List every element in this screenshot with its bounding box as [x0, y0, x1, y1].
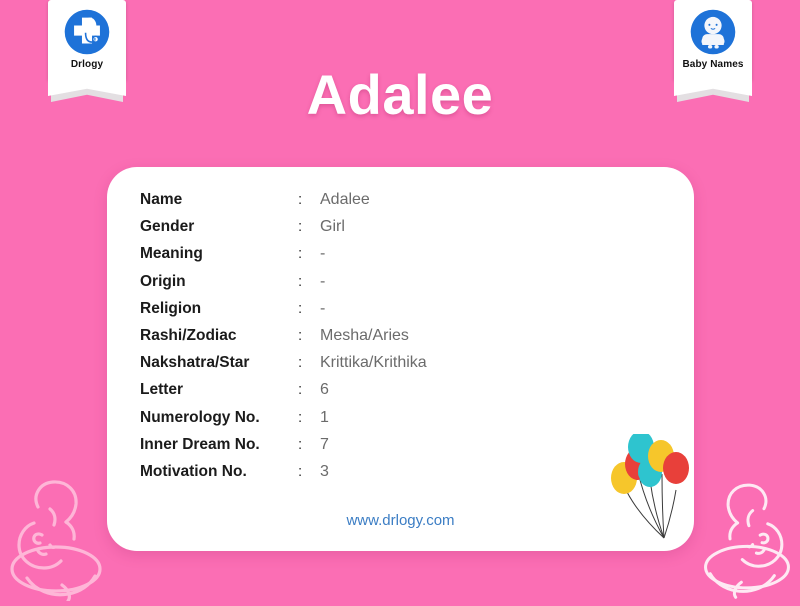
row-value: Adalee: [320, 191, 370, 209]
row-label: Name: [140, 191, 298, 209]
row-separator: :: [298, 436, 320, 453]
row-label: Meaning: [140, 245, 298, 263]
row-label: Numerology No.: [140, 409, 298, 427]
row-label: Rashi/Zodiac: [140, 327, 298, 345]
row-value: Mesha/Aries: [320, 327, 409, 345]
row-separator: :: [298, 354, 320, 371]
row-value: 6: [320, 381, 329, 399]
row-separator: :: [298, 381, 320, 398]
page-title: Adalee: [0, 62, 800, 127]
row-separator: :: [298, 245, 320, 262]
row-label: Motivation No.: [140, 463, 298, 481]
table-row: Meaning : -: [140, 245, 427, 272]
table-row: Religion : -: [140, 300, 427, 327]
mother-baby-watermark-left: [4, 473, 108, 606]
row-value: 3: [320, 463, 329, 481]
table-row: Origin : -: [140, 273, 427, 300]
doctor-cross-icon: [64, 9, 110, 55]
name-details-card: Name : Adalee Gender : Girl Meaning : - …: [107, 167, 694, 551]
poster-canvas: Drlogy Baby Names Adalee: [0, 0, 800, 600]
table-row: Nakshatra/Star : Krittika/Krithika: [140, 354, 427, 381]
row-separator: :: [298, 218, 320, 235]
row-value: Girl: [320, 218, 345, 236]
balloons-icon: [602, 434, 694, 551]
table-row: Gender : Girl: [140, 218, 427, 245]
row-label: Religion: [140, 300, 298, 318]
row-label: Letter: [140, 381, 298, 399]
row-label: Nakshatra/Star: [140, 354, 298, 372]
table-row: Letter : 6: [140, 381, 427, 408]
row-label: Inner Dream No.: [140, 436, 298, 454]
row-value: 1: [320, 409, 329, 427]
row-separator: :: [298, 300, 320, 317]
details-table: Name : Adalee Gender : Girl Meaning : - …: [140, 191, 427, 490]
row-value: -: [320, 273, 325, 291]
row-label: Origin: [140, 273, 298, 291]
table-row: Rashi/Zodiac : Mesha/Aries: [140, 327, 427, 354]
row-value: -: [320, 300, 325, 318]
mother-baby-watermark-right: [698, 473, 796, 606]
table-row: Name : Adalee: [140, 191, 427, 218]
row-separator: :: [298, 463, 320, 480]
table-row: Numerology No. : 1: [140, 409, 427, 436]
row-separator: :: [298, 191, 320, 208]
table-row: Inner Dream No. : 7: [140, 436, 427, 463]
row-separator: :: [298, 273, 320, 290]
row-value: Krittika/Krithika: [320, 354, 427, 372]
row-value: -: [320, 245, 325, 263]
row-separator: :: [298, 327, 320, 344]
row-value: 7: [320, 436, 329, 454]
row-separator: :: [298, 409, 320, 426]
website-link[interactable]: www.drlogy.com: [107, 512, 694, 529]
baby-icon: [690, 9, 736, 55]
row-label: Gender: [140, 218, 298, 236]
table-row: Motivation No. : 3: [140, 463, 427, 490]
